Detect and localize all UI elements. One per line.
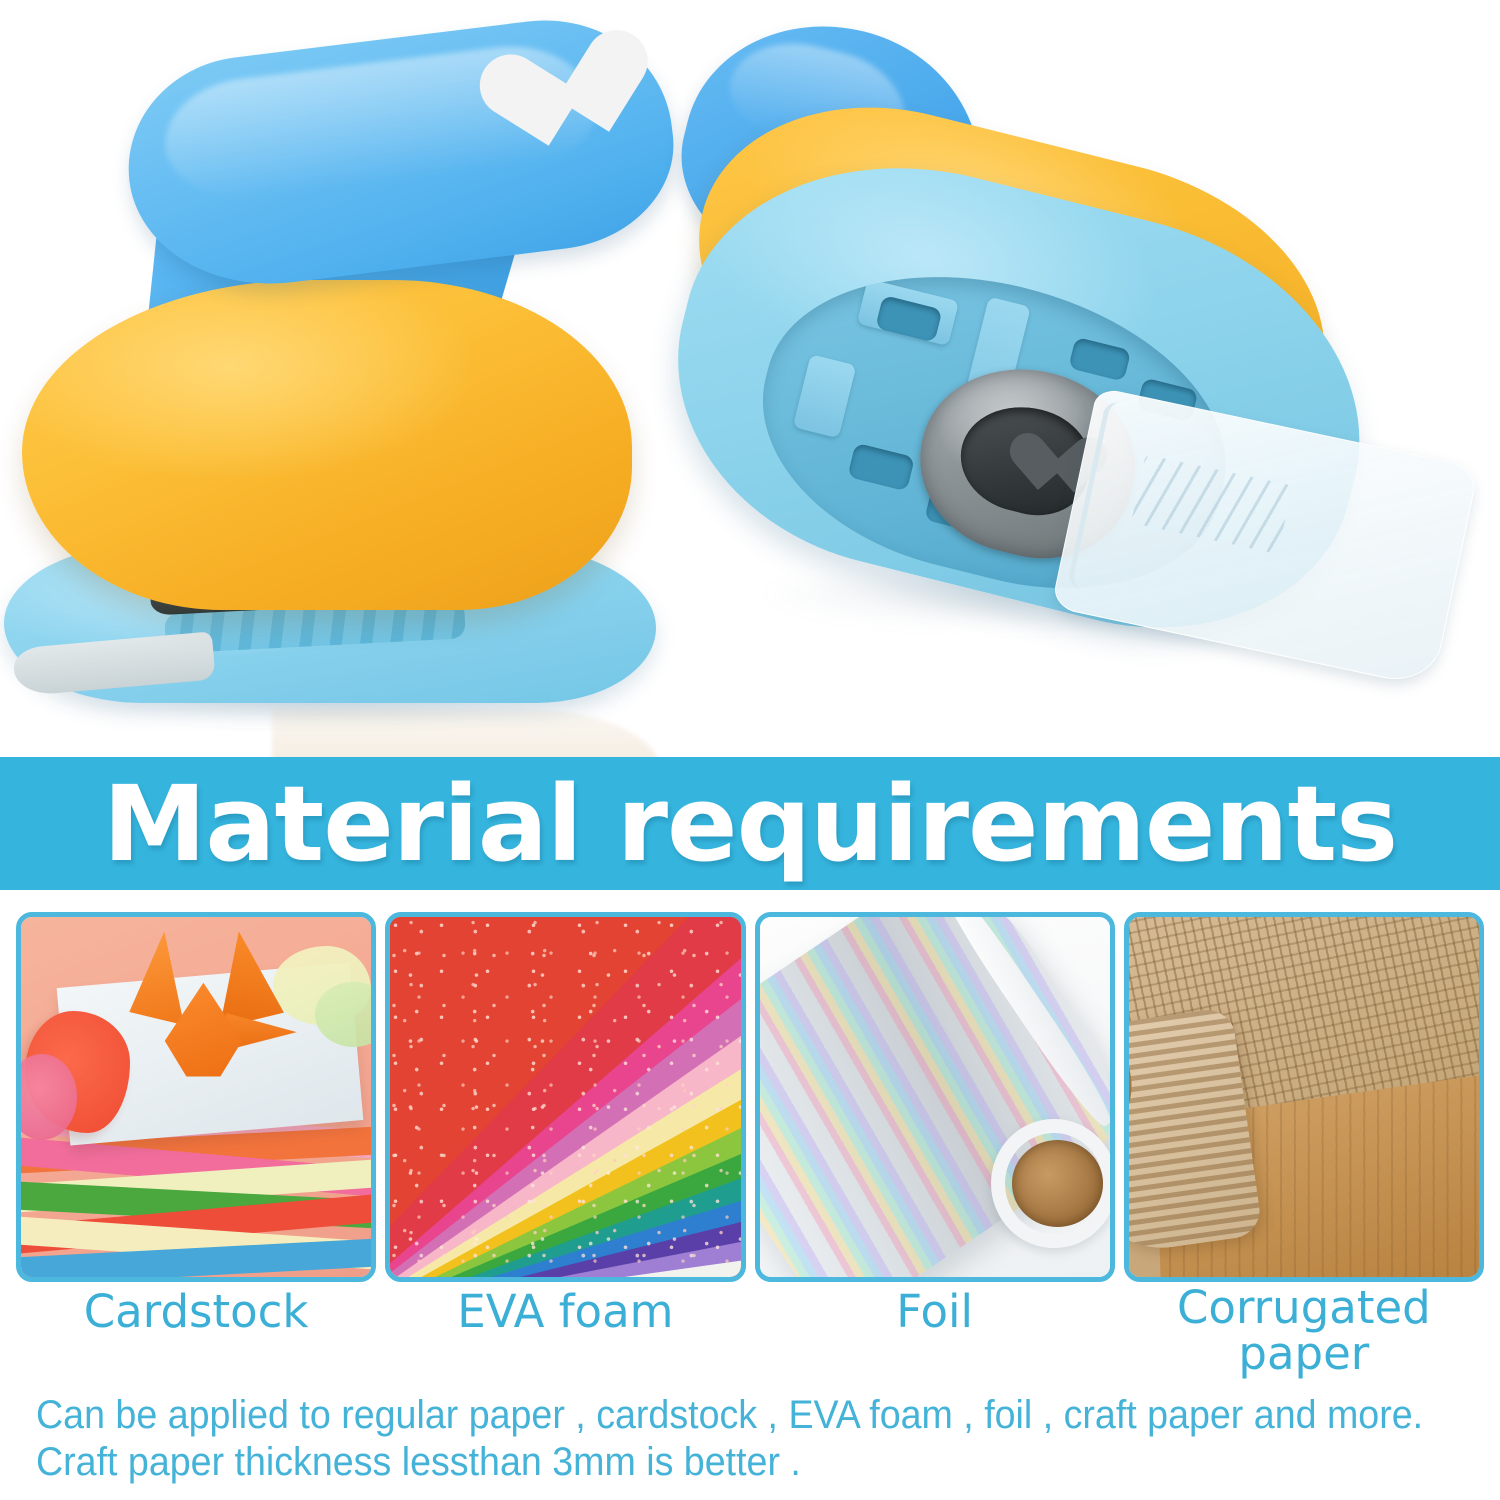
material-card-foil xyxy=(755,912,1115,1282)
corrugated-paper-image xyxy=(1129,917,1479,1277)
origami-crane xyxy=(126,931,287,1082)
material-label: Corrugated paper xyxy=(1177,1285,1431,1377)
label-cell-corrugated-paper: Corrugated paper xyxy=(1124,1285,1484,1390)
label-cell-eva-foam: EVA foam xyxy=(385,1285,745,1390)
section-banner: Material requirements xyxy=(0,757,1500,890)
punch-left-lever xyxy=(116,6,685,301)
glitter-texture xyxy=(390,917,740,1277)
material-label-row: Cardstock EVA foam Foil Corrugated paper xyxy=(0,1285,1500,1390)
hero-product-photo xyxy=(0,0,1500,757)
foil-image xyxy=(760,917,1110,1277)
material-card-cardstock xyxy=(16,912,376,1282)
description-line-2: Craft paper thickness lessthan 3mm is be… xyxy=(36,1439,1390,1486)
banner-title: Material requirements xyxy=(103,772,1397,876)
corrugated-roll-opening xyxy=(1124,1026,1138,1137)
crane-wing xyxy=(220,931,284,1028)
label-cell-foil: Foil xyxy=(755,1285,1115,1390)
cardstock-image xyxy=(21,917,371,1277)
material-card-corrugated-paper xyxy=(1124,912,1484,1282)
foil-cardboard-core xyxy=(1012,1140,1103,1226)
cavity-hole xyxy=(1069,337,1131,382)
material-label: Foil xyxy=(896,1289,973,1335)
cavity-hole xyxy=(848,443,916,492)
material-card-row xyxy=(0,912,1500,1282)
crane-wing xyxy=(129,931,184,1025)
material-label: EVA foam xyxy=(457,1289,673,1335)
craft-punch-underside xyxy=(665,10,1500,740)
description-line-1: Can be applied to regular paper , cardst… xyxy=(36,1392,1390,1439)
cavity-rib xyxy=(792,354,856,439)
material-label: Cardstock xyxy=(84,1289,309,1335)
label-cell-cardstock: Cardstock xyxy=(16,1285,376,1390)
craft-punch-upright xyxy=(0,18,700,718)
translucent-paper-guide xyxy=(1051,387,1479,688)
material-card-eva-foam xyxy=(385,912,745,1282)
punch-left-body xyxy=(22,280,632,610)
eva-foam-image xyxy=(390,917,740,1277)
usage-description: Can be applied to regular paper , cardst… xyxy=(36,1392,1390,1486)
